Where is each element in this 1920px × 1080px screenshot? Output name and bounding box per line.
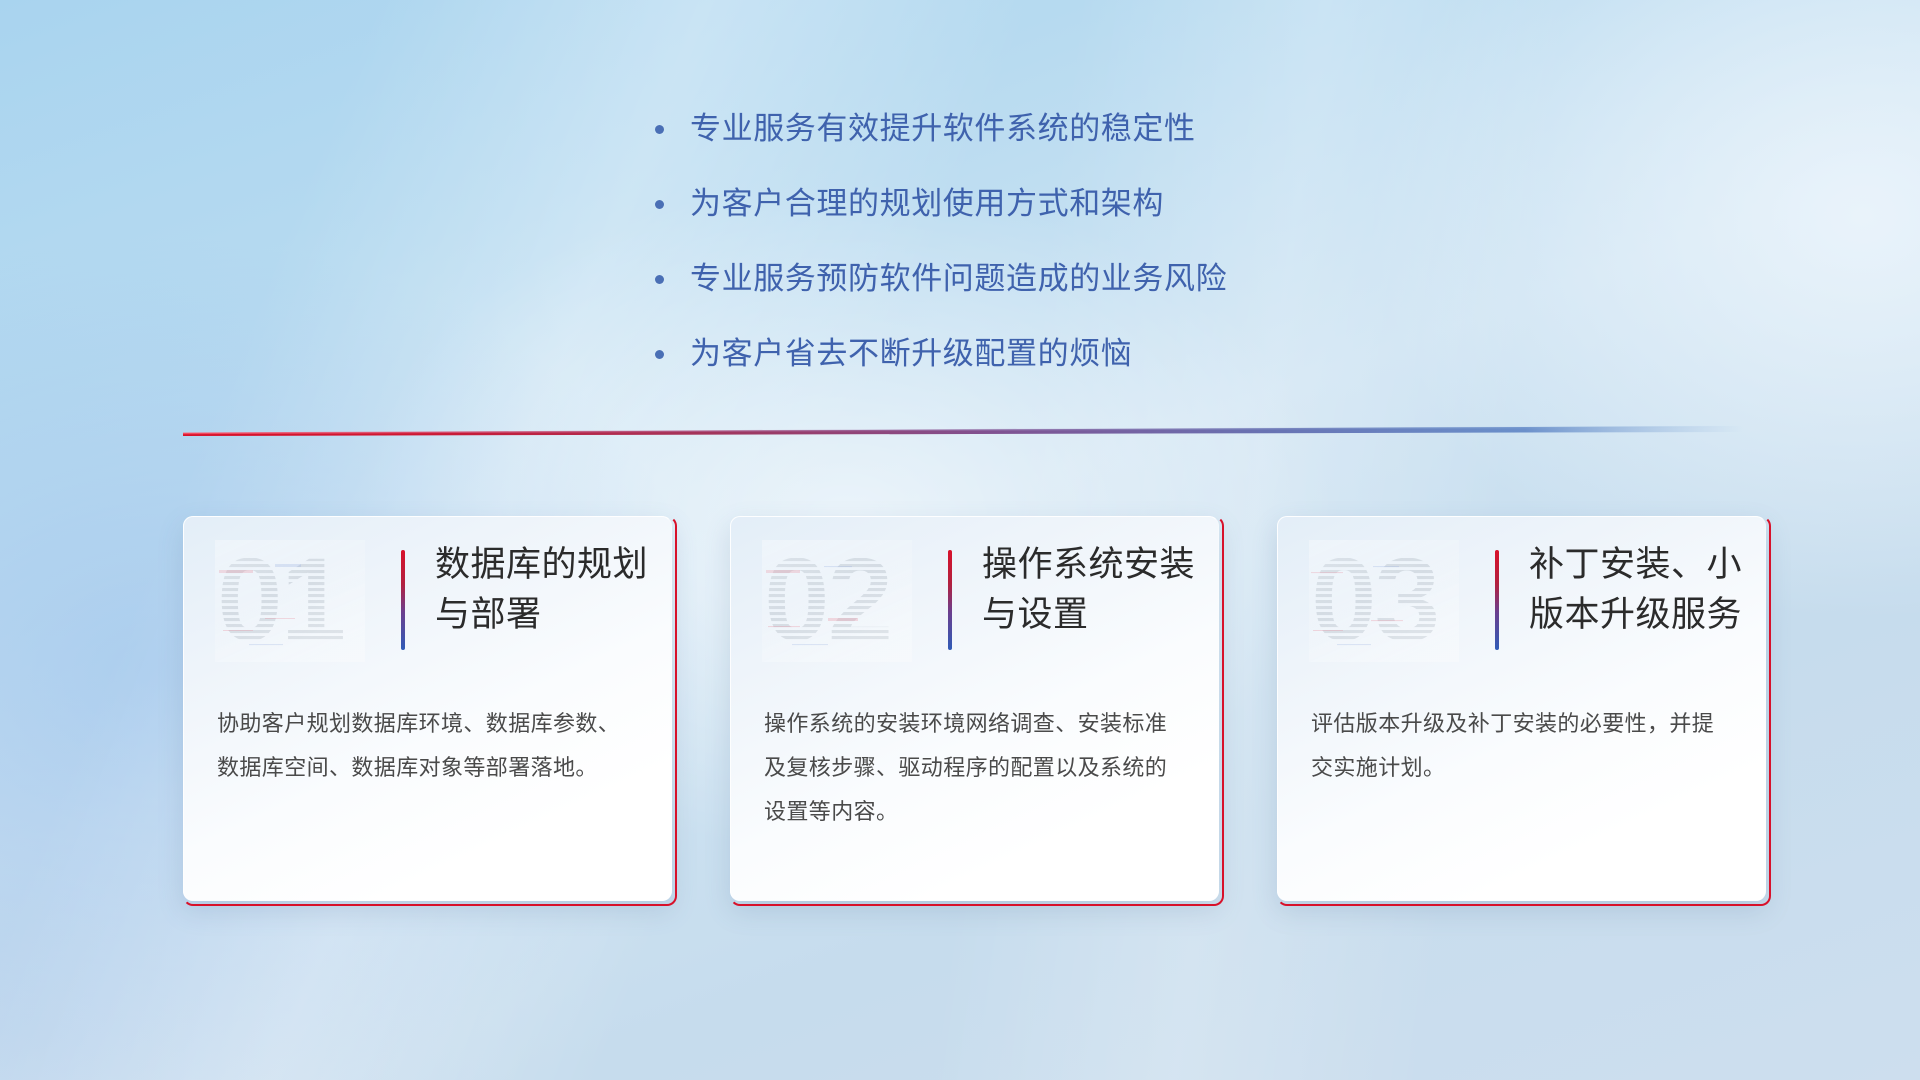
section-divider xyxy=(183,423,1743,437)
benefit-bullet-list: 专业服务有效提升软件系统的稳定性 为客户合理的规划使用方式和架构 专业服务预防软… xyxy=(655,108,1475,408)
bullet-text: 专业服务有效提升软件系统的稳定性 xyxy=(690,108,1196,150)
bullet-text: 专业服务预防软件问题造成的业务风险 xyxy=(690,258,1227,300)
card-header: 03 补丁安装、小版本升级服务 xyxy=(1277,516,1766,684)
divider-shape-icon xyxy=(183,423,1743,437)
bullet-dot-icon xyxy=(655,350,664,359)
card-number-01-icon: 01 xyxy=(215,540,365,662)
card-header: 02 操作系统安装与设置 xyxy=(730,516,1219,684)
bullet-dot-icon xyxy=(655,125,664,134)
card-title: 补丁安装、小版本升级服务 xyxy=(1529,540,1744,640)
card-body-text: 协助客户规划数据库环境、数据库参数、数据库空间、数据库对象等部署落地。 xyxy=(217,702,642,790)
card-header: 01 数据库的规划与部署 xyxy=(183,516,672,684)
card-body-text: 评估版本升级及补丁安装的必要性，并提交实施计划。 xyxy=(1311,702,1736,790)
card-title: 操作系统安装与设置 xyxy=(982,540,1197,640)
service-card[interactable]: 03 补丁安装、小版本升级服务 评估版本升级及 xyxy=(1277,516,1766,901)
card-number-02-icon: 02 xyxy=(762,540,912,662)
card-title: 数据库的规划与部署 xyxy=(435,540,650,640)
card-body-text: 操作系统的安装环境网络调查、安装标准及复核步骤、驱动程序的配置以及系统的设置等内… xyxy=(764,702,1189,834)
service-card[interactable]: 02 操作系统安装与设置 操作系统的安装环境网 xyxy=(730,516,1219,901)
card-accent-rule xyxy=(401,550,405,650)
list-item: 专业服务预防软件问题造成的业务风险 xyxy=(655,258,1475,300)
list-item: 为客户合理的规划使用方式和架构 xyxy=(655,183,1475,225)
bullet-dot-icon xyxy=(655,200,664,209)
list-item: 为客户省去不断升级配置的烦恼 xyxy=(655,333,1475,375)
service-card-grid: 01 数据库的规划与部署 协助客户规划数据库环 xyxy=(183,516,1767,906)
service-card[interactable]: 01 数据库的规划与部署 协助客户规划数据库环 xyxy=(183,516,672,901)
list-item: 专业服务有效提升软件系统的稳定性 xyxy=(655,108,1475,150)
bullet-dot-icon xyxy=(655,275,664,284)
card-number-03-icon: 03 xyxy=(1309,540,1459,662)
bullet-text: 为客户合理的规划使用方式和架构 xyxy=(690,183,1164,225)
bullet-text: 为客户省去不断升级配置的烦恼 xyxy=(690,333,1132,375)
card-accent-rule xyxy=(948,550,952,650)
card-accent-rule xyxy=(1495,550,1499,650)
slide-canvas: 专业服务有效提升软件系统的稳定性 为客户合理的规划使用方式和架构 专业服务预防软… xyxy=(0,0,1920,1080)
